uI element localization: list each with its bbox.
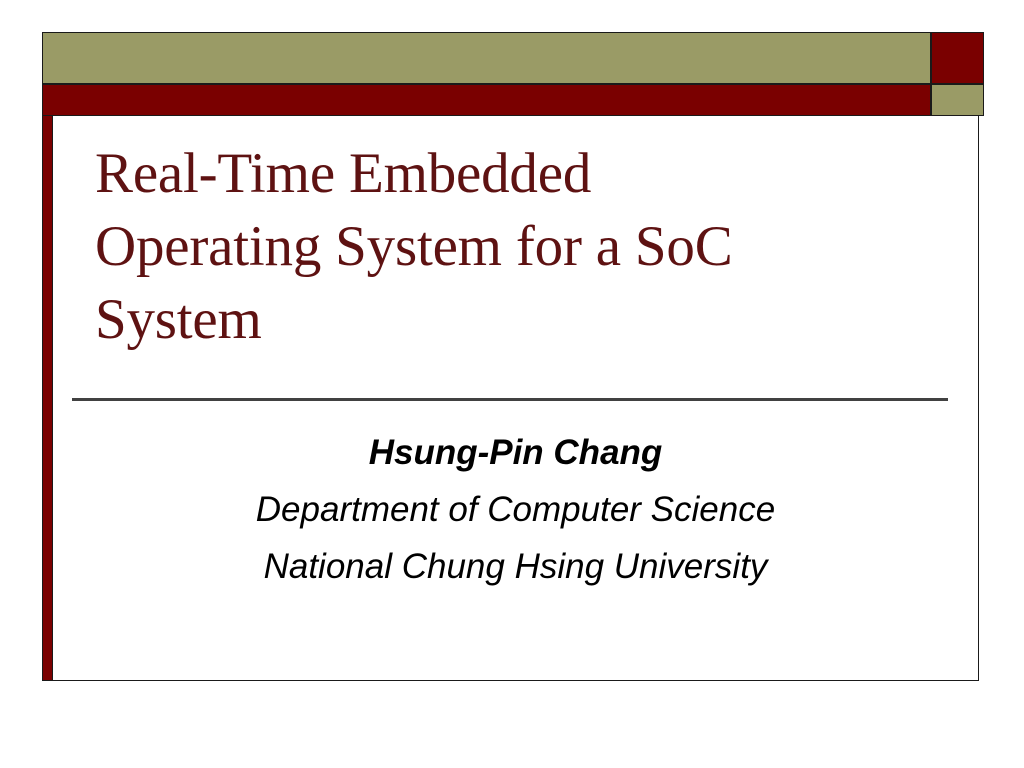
title-slide: Real-Time Embedded Operating System for …	[0, 0, 1024, 768]
content-frame-bottom-border	[42, 680, 979, 681]
author-name: Hsung-Pin Chang	[53, 424, 978, 481]
left-accent-bar	[42, 116, 53, 681]
banner-maroon-square-top-right	[931, 32, 984, 84]
banner-olive-bar	[42, 32, 931, 84]
title-line-3: System	[95, 283, 925, 356]
banner-olive-square-right	[931, 84, 984, 116]
slide-title: Real-Time Embedded Operating System for …	[95, 137, 925, 356]
banner-maroon-bar	[42, 84, 931, 116]
slide-subtitle: Hsung-Pin Chang Department of Computer S…	[53, 424, 978, 595]
content-frame-right-border	[978, 116, 979, 681]
title-line-1: Real-Time Embedded	[95, 137, 925, 210]
title-line-2: Operating System for a SoC	[95, 210, 925, 283]
author-university: National Chung Hsing University	[53, 538, 978, 595]
author-department: Department of Computer Science	[53, 481, 978, 538]
title-divider-rule	[72, 398, 948, 401]
